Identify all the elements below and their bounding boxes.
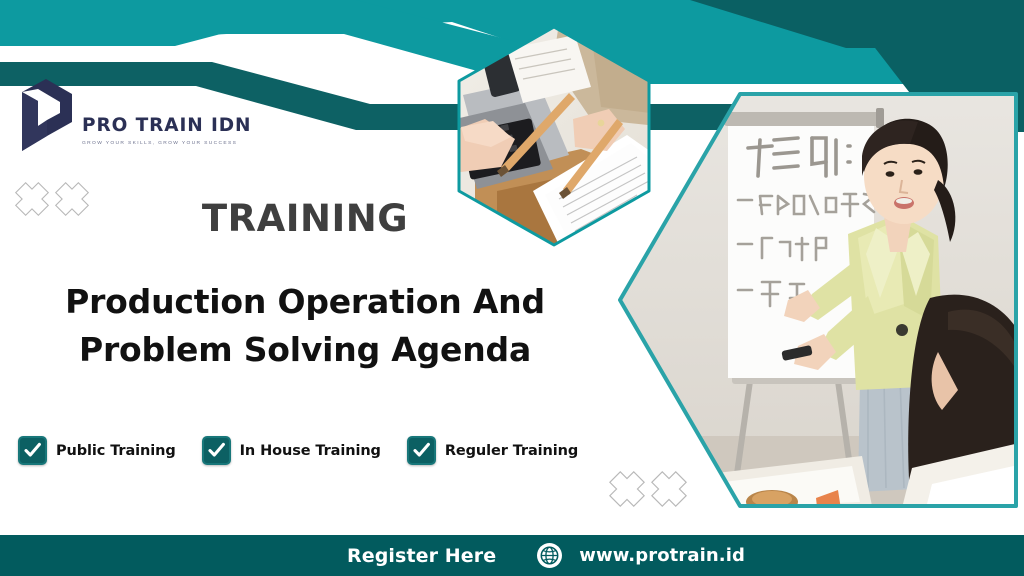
footer-bar: Register Here www.protrain.id [0, 535, 1024, 576]
training-type-public[interactable]: Public Training [18, 436, 176, 465]
brand-logo[interactable]: PRO TRAIN IDN GROW YOUR SKILLS, GROW YOU… [16, 62, 226, 167]
band-dark-top [300, 0, 1024, 22]
band-light-left [0, 0, 350, 46]
training-type-in-house[interactable]: In House Training [202, 436, 381, 465]
checkbox-checked-icon[interactable] [202, 436, 231, 465]
footer-content: Register Here www.protrain.id [347, 543, 745, 568]
training-type-label: Reguler Training [445, 443, 578, 459]
training-type-label: Public Training [56, 443, 176, 459]
training-poster: PRO TRAIN IDN GROW YOUR SKILLS, GROW YOU… [0, 0, 1024, 576]
globe-icon [537, 543, 562, 568]
register-here-label[interactable]: Register Here [347, 545, 496, 567]
page-kicker: TRAINING [0, 200, 610, 237]
website-url[interactable]: www.protrain.id [579, 545, 745, 566]
training-type-reguler[interactable]: Reguler Training [407, 436, 578, 465]
page-title-line-1: Production Operation And [0, 278, 610, 326]
training-type-list: Public Training In House Training Regule… [18, 436, 604, 465]
training-type-label: In House Training [240, 443, 381, 459]
photo-trainer-whiteboard [612, 84, 1024, 516]
page-title: Production Operation And Problem Solving… [0, 278, 610, 374]
checkbox-checked-icon[interactable] [18, 436, 47, 465]
protrain-chevron-logo-icon [16, 78, 78, 152]
band-dark-wedge-right [690, 0, 1024, 48]
page-title-line-2: Problem Solving Agenda [0, 326, 610, 374]
logo-tagline: GROW YOUR SKILLS, GROW YOUR SUCCESS [82, 141, 251, 146]
checkbox-checked-icon[interactable] [407, 436, 436, 465]
logo-name: PRO TRAIN IDN [82, 117, 251, 136]
